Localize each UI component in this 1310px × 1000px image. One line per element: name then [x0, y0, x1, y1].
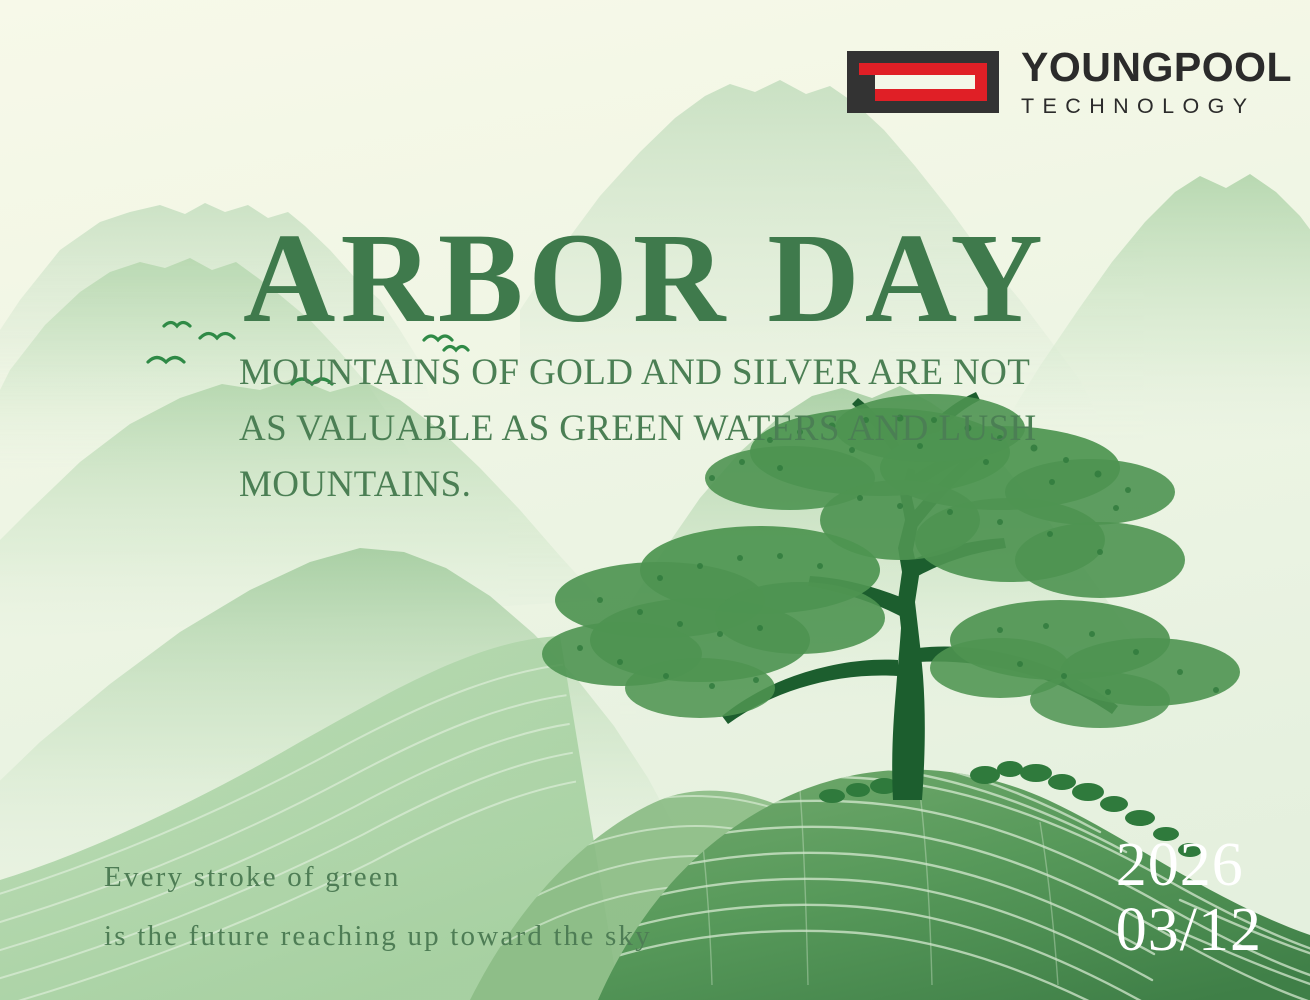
poster-subtitle: MOUNTAINS OF GOLD AND SILVER ARE NOT AS …	[239, 345, 1049, 514]
logo-brand-subname: TECHNOLOGY	[1021, 96, 1292, 118]
tagline-line-1: Every stroke of green	[104, 848, 652, 907]
arbor-day-poster: YOUNGPOOL TECHNOLOGY ARBOR DAY MOUNTAINS…	[0, 0, 1310, 1000]
date-year: 2026	[1116, 833, 1262, 898]
youngpool-logo-mark	[847, 51, 999, 113]
logo-brand-name: YOUNGPOOL	[1021, 47, 1292, 88]
youngpool-logo[interactable]: YOUNGPOOL TECHNOLOGY	[847, 47, 1292, 118]
event-date: 2026 03/12	[1116, 833, 1262, 963]
poster-tagline: Every stroke of green is the future reac…	[104, 848, 652, 967]
date-month-day: 03/12	[1116, 898, 1262, 963]
page-title: ARBOR DAY	[243, 214, 1048, 342]
tagline-line-2: is the future reaching up toward the sky	[104, 907, 652, 966]
